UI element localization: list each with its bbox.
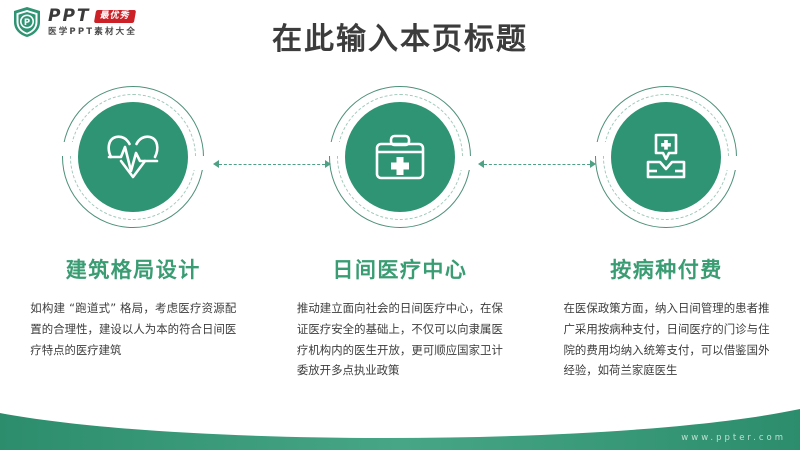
column-heading-3: 按病种付费 xyxy=(610,254,723,284)
heart-pulse-icon xyxy=(78,102,188,212)
icon-badge-1 xyxy=(62,86,204,228)
footer-band: www.ppter.com xyxy=(0,405,800,450)
arrow-right-icon xyxy=(325,160,331,168)
content-columns: 建筑格局设计 如构建 “跑道式” 格局，考虑医疗资源配置的合理性，建设以人为本的… xyxy=(0,86,800,381)
column-heading-1: 建筑格局设计 xyxy=(66,254,201,284)
column-heading-2: 日间医疗中心 xyxy=(332,254,467,284)
dashed-line xyxy=(219,164,325,165)
hospital-bed-care-icon xyxy=(611,102,721,212)
first-aid-kit-icon xyxy=(345,102,455,212)
column-body-3: 在医保政策方面，纳入日间管理的患者推广采用按病种支付，日间医疗的门诊与住院的费用… xyxy=(563,298,769,381)
icon-badge-3 xyxy=(595,86,737,228)
page-title: 在此输入本页标题 xyxy=(0,14,800,58)
dashed-line xyxy=(484,164,590,165)
connector-1 xyxy=(213,158,331,170)
arrow-right-icon xyxy=(590,160,596,168)
footer-url: www.ppter.com xyxy=(681,433,786,443)
connector-2 xyxy=(478,158,596,170)
content-column-2: 日间医疗中心 推动建立面向社会的日间医疗中心，在保证医疗安全的基础上，不仅可以向… xyxy=(267,86,534,381)
content-column-3: 按病种付费 在医保政策方面，纳入日间管理的患者推广采用按病种支付，日间医疗的门诊… xyxy=(533,86,800,381)
column-body-2: 推动建立面向社会的日间医疗中心，在保证医疗安全的基础上，不仅可以向隶属医疗机构内… xyxy=(297,298,503,381)
column-body-1: 如构建 “跑道式” 格局，考虑医疗资源配置的合理性，建设以人为本的符合日间医疗特… xyxy=(30,298,236,360)
content-column-1: 建筑格局设计 如构建 “跑道式” 格局，考虑医疗资源配置的合理性，建设以人为本的… xyxy=(0,86,267,381)
icon-badge-2 xyxy=(329,86,471,228)
